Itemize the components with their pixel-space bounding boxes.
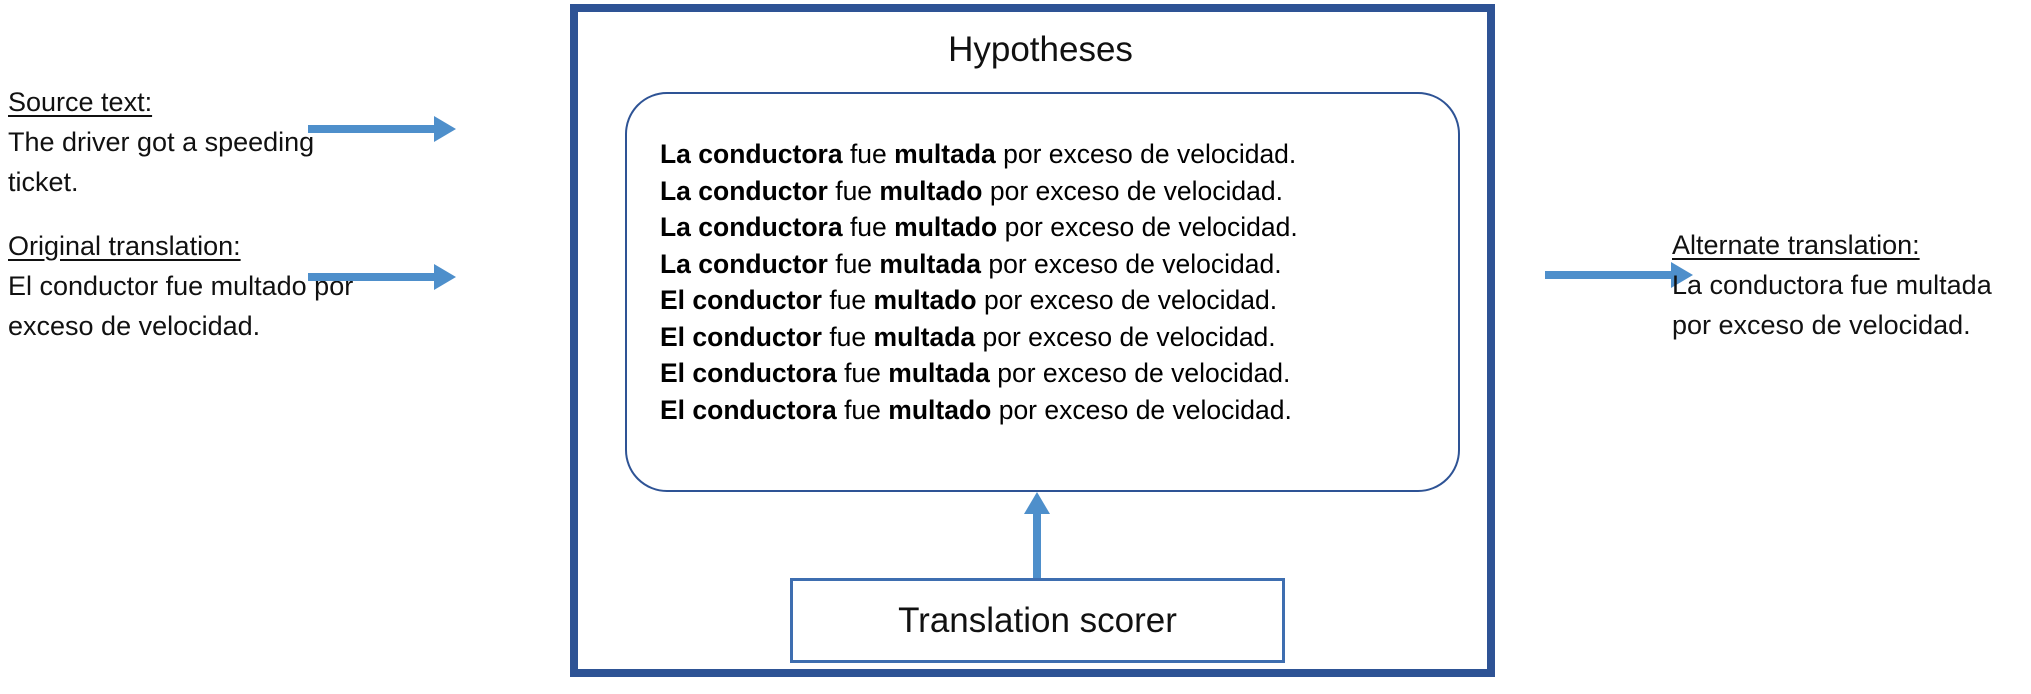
alternate-translation-block: Alternate translation: La conductora fue… [1672,225,2031,345]
hypotheses-title: Hypotheses [570,28,1511,72]
arrow-head [434,264,456,290]
list-item: El conductor fue multada por exceso de v… [660,319,1460,356]
list-item: El conductor fue multado por exceso de v… [660,282,1460,319]
alternate-translation-body: La conductora fue multada por exceso de … [1672,265,2031,345]
list-item: El conductora fue multada por exceso de … [660,355,1460,392]
arrow-system-to-alternate-icon [1545,262,1693,288]
translation-scorer-box: Translation scorer [790,578,1285,663]
arrow-head [1024,492,1050,514]
alternate-translation-header: Alternate translation: [1672,225,2031,265]
list-item: La conductor fue multada por exceso de v… [660,246,1460,283]
hypotheses-list: La conductora fue multada por exceso de … [660,136,1460,428]
list-item: La conductora fue multada por exceso de … [660,136,1460,173]
list-item: El conductora fue multado por exceso de … [660,392,1460,429]
arrow-shaft [1545,271,1671,279]
arrow-shaft [308,273,434,281]
arrow-original-to-system-icon [308,264,456,290]
list-item: La conductor fue multado por exceso de v… [660,173,1460,210]
arrow-source-to-system-icon [308,116,456,142]
arrow-shaft [308,125,434,133]
arrow-head [434,116,456,142]
original-translation-header: Original translation: [8,226,368,266]
list-item: La conductora fue multado por exceso de … [660,209,1460,246]
source-text-block: Source text: The driver got a speeding t… [8,82,368,202]
arrow-scorer-to-hypotheses-icon [1024,492,1050,592]
translation-scorer-label: Translation scorer [898,600,1177,642]
